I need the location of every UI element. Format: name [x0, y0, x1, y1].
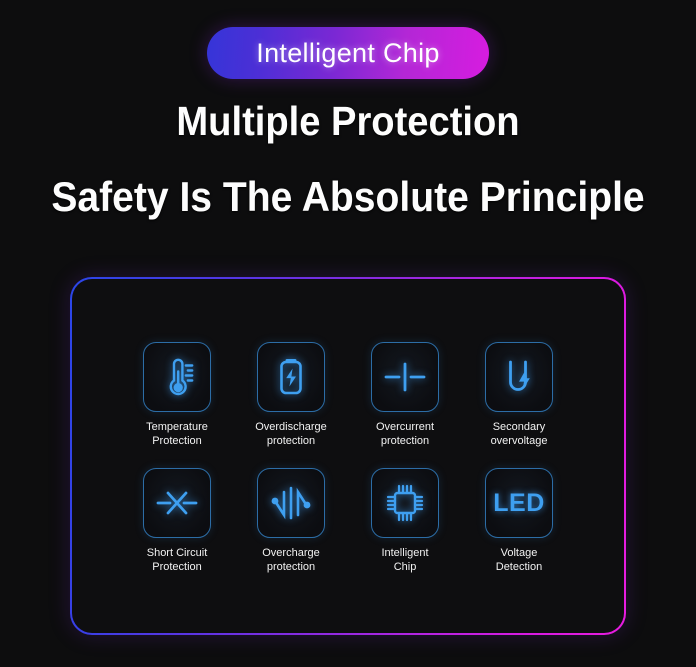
headings-block: Multiple Protection Safety Is The Absolu… — [0, 95, 696, 225]
feature-label: Voltage Detection — [496, 547, 542, 574]
heading-secondary: Safety Is The Absolute Principle — [24, 169, 671, 225]
feature-tile — [143, 468, 211, 538]
protection-panel: Temperature Protection Overdischarge pro… — [70, 277, 626, 635]
feature-label: Overcharge protection — [262, 547, 319, 574]
thermometer-icon — [157, 356, 197, 398]
feature-label: Intelligent Chip — [381, 547, 428, 574]
feature-cell-overcurrent-protection: Overcurrent protection — [348, 342, 462, 448]
feature-grid: Temperature Protection Overdischarge pro… — [72, 342, 624, 574]
feature-cell-secondary-overvoltage: Secondary overvoltage — [462, 342, 576, 448]
feature-label: Overcurrent protection — [376, 421, 434, 448]
feature-label: Overdischarge protection — [255, 421, 327, 448]
feature-cell-short-circuit-protection: Short Circuit Protection — [120, 468, 234, 574]
feature-tile — [143, 342, 211, 412]
battery-bolt-icon — [273, 355, 309, 399]
feature-tile — [371, 468, 439, 538]
short-circuit-x-icon — [154, 486, 200, 520]
heading-primary: Multiple Protection — [24, 95, 671, 147]
waveform-icon — [269, 482, 313, 524]
feature-label: Temperature Protection — [146, 421, 208, 448]
led-text-icon: LED — [493, 489, 545, 518]
feature-label: Secondary overvoltage — [491, 421, 548, 448]
feature-cell-temperature-protection: Temperature Protection — [120, 342, 234, 448]
badge-row: Intelligent Chip — [0, 0, 696, 79]
feature-cell-overcharge-protection: Overcharge protection — [234, 468, 348, 574]
badge-label: Intelligent Chip — [256, 38, 439, 69]
feature-tile: LED — [485, 468, 553, 538]
protection-panel-inner: Temperature Protection Overdischarge pro… — [72, 279, 624, 633]
intelligent-chip-badge: Intelligent Chip — [207, 27, 489, 79]
feature-cell-intelligent-chip: Intelligent Chip — [348, 468, 462, 574]
feature-cell-voltage-detection: LED Voltage Detection — [462, 468, 576, 574]
u-bolt-icon — [500, 356, 538, 398]
feature-label: Short Circuit Protection — [147, 547, 208, 574]
feature-cell-overdischarge-protection: Overdischarge protection — [234, 342, 348, 448]
cpu-chip-icon — [383, 481, 427, 525]
feature-tile — [257, 468, 325, 538]
feature-tile — [257, 342, 325, 412]
overcurrent-icon — [382, 360, 428, 394]
feature-tile — [485, 342, 553, 412]
feature-tile — [371, 342, 439, 412]
